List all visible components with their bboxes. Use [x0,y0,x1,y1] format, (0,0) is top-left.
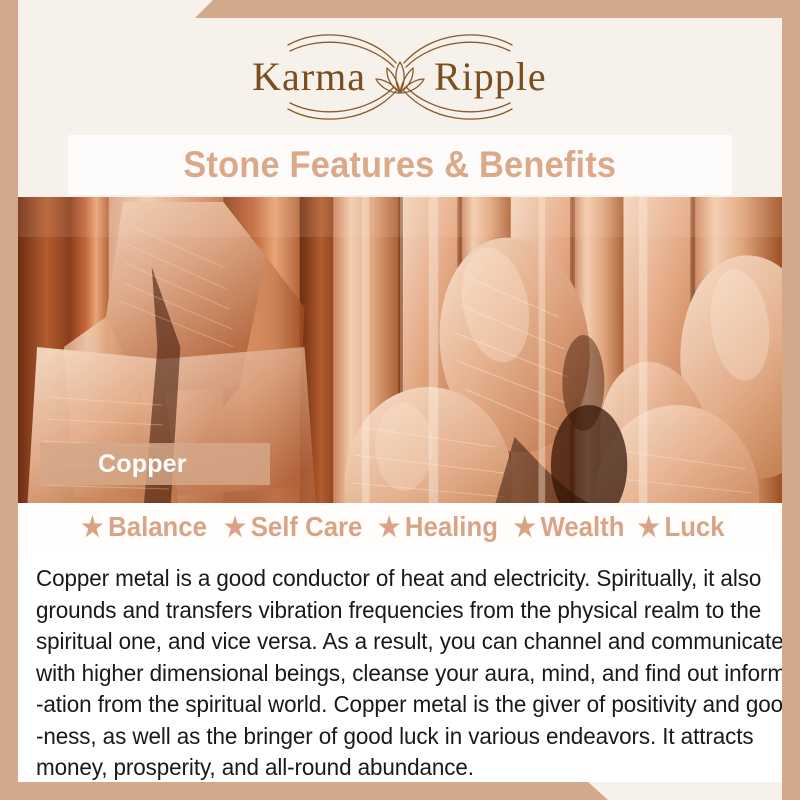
benefit-item-balance: ★ Balance [77,511,207,543]
description-line: money, prosperity, and all-round abundan… [36,752,731,782]
benefit-item-luck: ★ Luck [633,511,725,543]
description-paragraph: Copper metal is a good conductor of heat… [36,563,731,782]
benefit-item-healing: ★ Healing [374,511,499,543]
description-line: -ation from the spiritual world. Copper … [36,689,731,721]
lotus-icon [372,54,428,100]
frame-border-top [0,0,800,18]
description-line: with higher dimensional beings, cleanse … [36,658,731,690]
benefit-label: Self Care [250,511,362,543]
hero-image: Copper [18,197,782,503]
frame-border-right [782,0,800,800]
benefits-list: ★ Balance ★ Self Care ★ Healing ★ Wealth… [18,503,782,551]
infographic-page: Karma Ripple [0,0,800,800]
content-canvas: Karma Ripple [18,18,782,782]
description-line: -ness, as well as the bringer of good lu… [36,721,731,753]
description-block: Copper metal is a good conductor of heat… [18,551,782,782]
benefit-label: Healing [405,511,498,543]
benefit-item-self-care: ★ Self Care [219,511,362,543]
benefit-label: Luck [665,511,725,543]
benefit-item-wealth: ★ Wealth [509,511,624,543]
star-icon: ★ [81,514,103,541]
page-title: Stone Features & Benefits [184,144,617,186]
star-icon: ★ [224,514,246,541]
description-line: spiritual one, and vice versa. As a resu… [36,626,731,658]
hero-caption-banner: Copper [40,443,270,485]
description-line: grounds and transfers vibration frequenc… [36,595,731,627]
brand-name-right: Ripple [428,57,578,97]
frame-border-left [0,0,18,800]
page-title-band: Stone Features & Benefits [68,135,732,195]
frame-border-bottom [0,782,800,800]
brand-logo: Karma Ripple [18,18,782,135]
benefit-label: Balance [108,511,207,543]
star-icon: ★ [638,514,660,541]
description-line: Copper metal is a good conductor of heat… [36,563,731,595]
benefit-label: Wealth [540,511,624,543]
brand-name-left: Karma [222,57,372,97]
star-icon: ★ [513,514,535,541]
hero-caption-text: Copper [40,450,187,479]
star-icon: ★ [378,514,400,541]
